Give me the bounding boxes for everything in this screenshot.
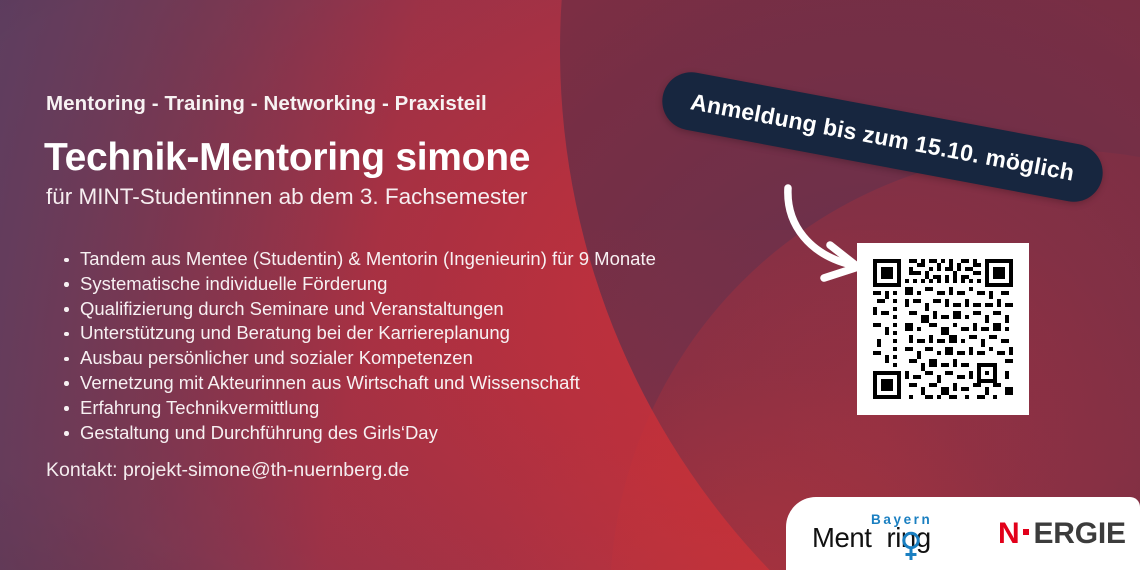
contact-email-text: Kontakt: projekt-simone@th-nuernberg.de	[46, 459, 409, 482]
list-item: Erfahrung Technikvermittlung	[63, 396, 656, 421]
bayern-mentoring-word-part-1: Ment	[812, 522, 872, 553]
feature-list: Tandem aus Mentee (Studentin) & Mentorin…	[63, 247, 656, 445]
list-item: Systematische individuelle Förderung	[63, 272, 656, 297]
list-item: Vernetzung mit Akteurinnen aus Wirtschaf…	[63, 371, 656, 396]
kicker-text: Mentoring - Training - Networking - Prax…	[46, 92, 487, 116]
venus-symbol-icon	[898, 531, 924, 561]
nergie-word-ergie: ERGIE	[1033, 519, 1125, 549]
subtitle-text: für MINT-Studentinnen ab dem 3. Fachseme…	[46, 184, 527, 210]
list-item: Gestaltung und Durchführung des Girls‘Da…	[63, 421, 656, 446]
nergie-logo: N ERGIE	[998, 519, 1126, 549]
logo-panel: Bayern Mentoring N ERGIE	[786, 497, 1140, 570]
list-item: Unterstützung und Beratung bei der Karri…	[63, 321, 656, 346]
list-item: Tandem aus Mentee (Studentin) & Mentorin…	[63, 247, 656, 272]
bayern-mentoring-logo: Bayern Mentoring	[812, 509, 972, 559]
page-title: Technik-Mentoring simone	[44, 136, 530, 180]
qr-code[interactable]	[857, 243, 1029, 415]
nergie-letter-n: N	[998, 519, 1019, 549]
promo-banner: Mentoring - Training - Networking - Prax…	[0, 0, 1140, 570]
list-item: Qualifizierung durch Seminare und Verans…	[63, 297, 656, 322]
list-item: Ausbau persönlicher und sozialer Kompete…	[63, 346, 656, 371]
nergie-separator-dot	[1023, 529, 1029, 535]
qr-code-modules	[869, 255, 1017, 403]
